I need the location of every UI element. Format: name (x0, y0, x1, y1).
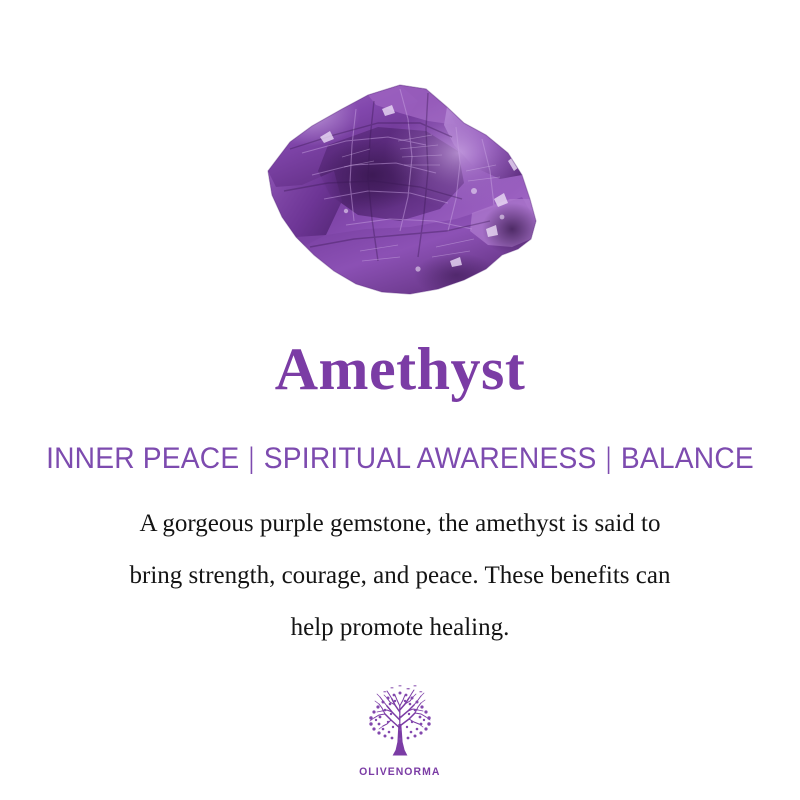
keyword-inner-peace: INNER PEACE (46, 442, 239, 475)
keyword-separator: | (600, 441, 617, 477)
description-line: A gorgeous purple gemstone, the amethyst… (50, 498, 750, 550)
keyword-balance: BALANCE (621, 442, 754, 475)
brand-logo: OLIVENORMA (0, 684, 800, 778)
amethyst-crystal-icon (250, 79, 550, 301)
keyword-list: INNER PEACE|SPIRITUAL AWARENESS|BALANCE (24, 441, 776, 477)
description-text: A gorgeous purple gemstone, the amethyst… (50, 498, 750, 654)
bird-glyphs (383, 685, 423, 692)
page-title: Amethyst (0, 336, 800, 402)
keyword-separator: | (243, 441, 260, 477)
keyword-spiritual-awareness: SPIRITUAL AWARENESS (264, 442, 597, 475)
amethyst-info-card: Amethyst INNER PEACE|SPIRITUAL AWARENESS… (0, 0, 800, 800)
brand-name: OLIVENORMA (359, 766, 440, 778)
tree-logo-icon (357, 684, 443, 764)
description-line: bring strength, courage, and peace. Thes… (50, 550, 750, 602)
description-line: help promote healing. (50, 602, 750, 654)
gemstone-image-container (0, 74, 800, 306)
